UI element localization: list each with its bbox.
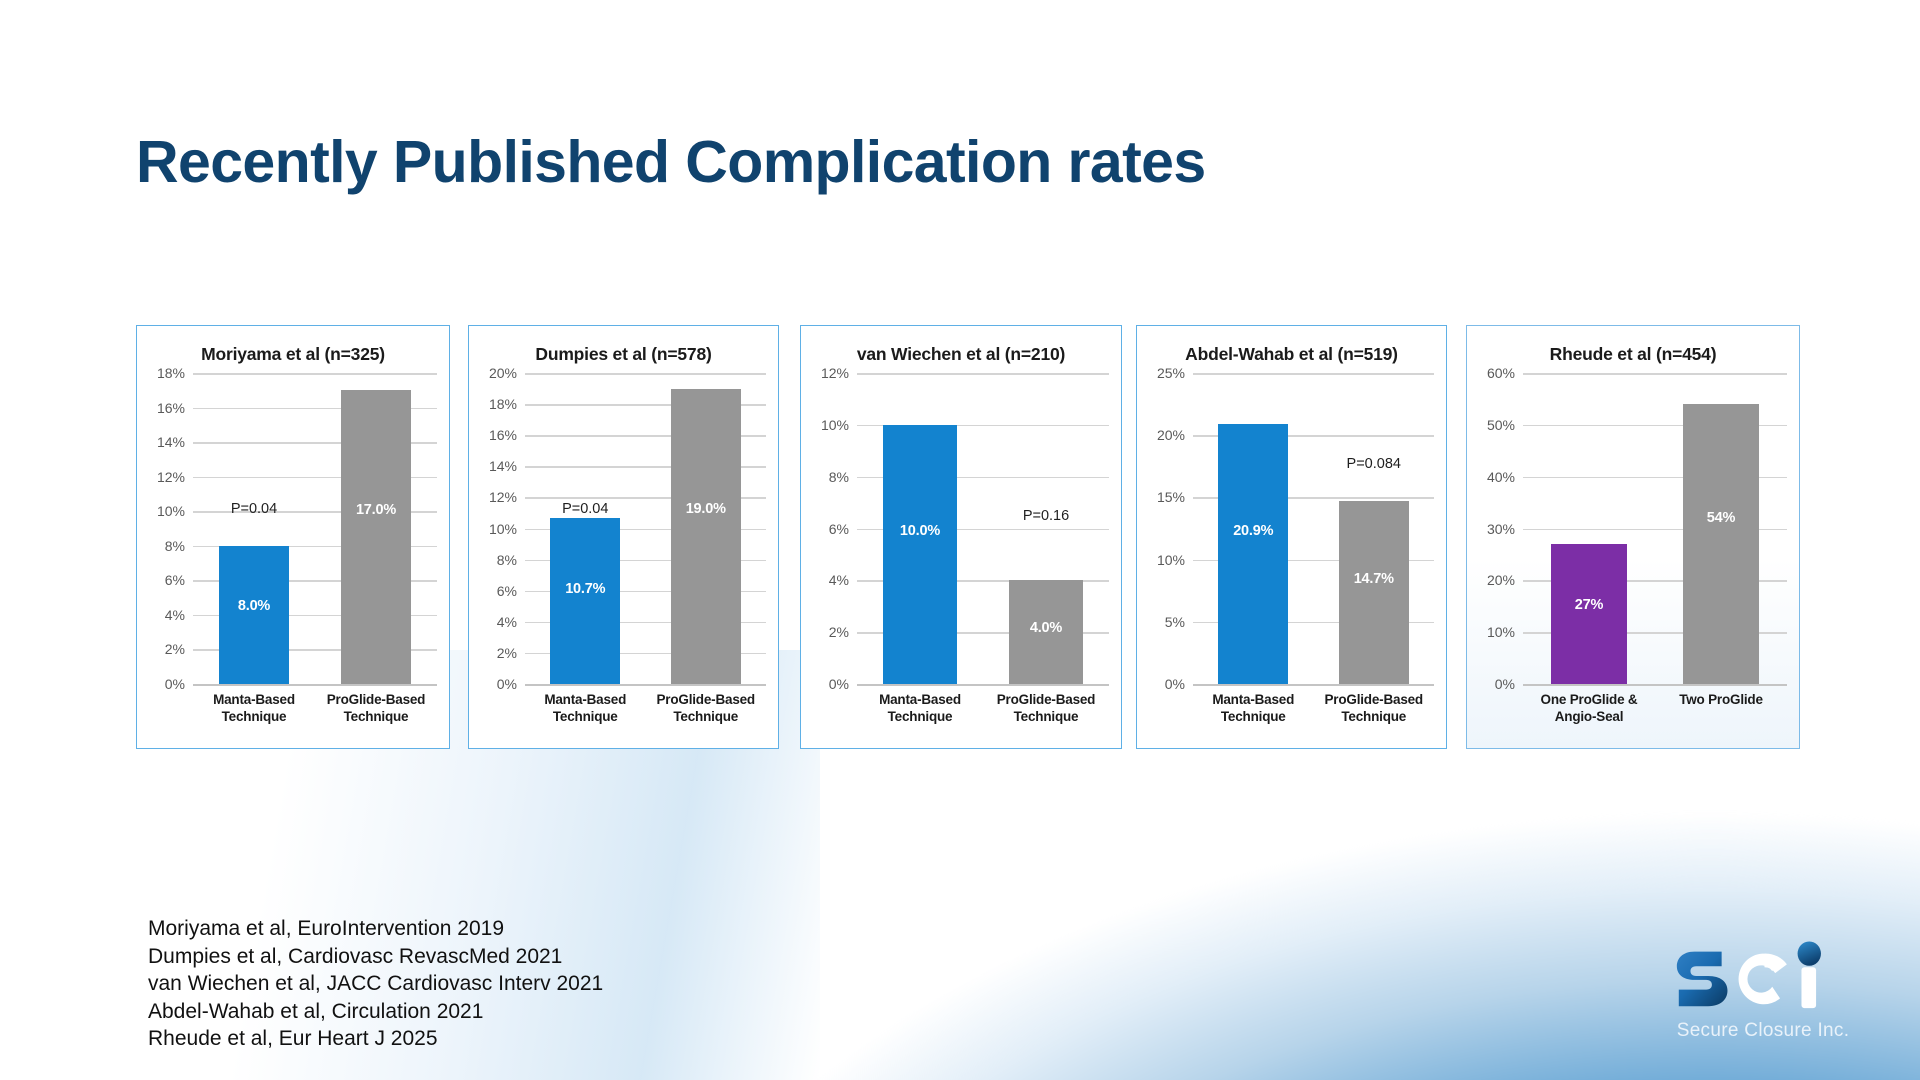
y-axis-tick-label: 5% <box>1165 614 1185 630</box>
bar-value-label: 27% <box>1575 597 1603 613</box>
bar: 54% <box>1683 404 1760 684</box>
bar-value-label: 10.0% <box>900 523 940 539</box>
bar-series: 10.0%4.0% <box>857 373 1109 684</box>
y-axis-tick-label: 16% <box>157 400 185 416</box>
gridline <box>193 684 437 686</box>
y-axis-tick-label: 18% <box>157 365 185 381</box>
plot-inner: 0%5%10%15%20%25%20.9%14.7%P=0.084 <box>1145 373 1436 684</box>
p-value-annotation: P=0.084 <box>1347 456 1401 472</box>
y-axis-tick-label: 50% <box>1487 417 1515 433</box>
chart-card: Rheude et al (n=454)0%10%20%30%40%50%60%… <box>1466 325 1800 749</box>
bar-slot: 54% <box>1655 373 1787 684</box>
bar-value-label: 54% <box>1707 510 1735 526</box>
y-axis-tick-label: 4% <box>829 572 849 588</box>
plot-inner: 0%2%4%6%8%10%12%10.0%4.0%P=0.16 <box>809 373 1111 684</box>
bar: 10.7% <box>550 518 620 684</box>
chart-title: Abdel-Wahab et al (n=519) <box>1143 344 1440 365</box>
chart-title: Moriyama et al (n=325) <box>143 344 443 365</box>
bar-series: 8.0%17.0% <box>193 373 437 684</box>
bar-series: 20.9%14.7% <box>1193 373 1434 684</box>
bar-value-label: 4.0% <box>1030 620 1062 636</box>
company-logo: Secure Closure Inc. <box>1658 938 1868 1042</box>
y-axis-tick-label: 16% <box>489 427 517 443</box>
logo-wordmark: Secure Closure Inc. <box>1658 1020 1868 1042</box>
plot-inner: 0%10%20%30%40%50%60%27%54% <box>1475 373 1789 684</box>
x-axis-category-label: Manta-Based Technique <box>1193 688 1314 742</box>
y-axis: 0%2%4%6%8%10%12%14%16%18%20% <box>477 373 523 684</box>
chart-title: Dumpies et al (n=578) <box>475 344 772 365</box>
chart-card: van Wiechen et al (n=210)0%2%4%6%8%10%12… <box>800 325 1122 749</box>
x-axis-category-label: Two ProGlide <box>1655 688 1787 742</box>
y-axis-tick-label: 10% <box>489 521 517 537</box>
y-axis-tick-label: 20% <box>1157 427 1185 443</box>
x-axis-category-label: ProGlide-Based Technique <box>315 688 437 742</box>
y-axis-tick-label: 12% <box>821 365 849 381</box>
y-axis-tick-label: 12% <box>489 489 517 505</box>
y-axis-tick-label: 2% <box>165 641 185 657</box>
x-axis-category-label: One ProGlide & Angio-Seal <box>1523 688 1655 742</box>
y-axis-tick-label: 2% <box>497 645 517 661</box>
y-axis-tick-label: 0% <box>497 676 517 692</box>
bar-value-label: 20.9% <box>1233 523 1273 539</box>
x-axis-category-label: Manta-Based Technique <box>857 688 983 742</box>
y-axis-tick-label: 10% <box>821 417 849 433</box>
p-value-annotation: P=0.16 <box>1023 508 1069 524</box>
bar-slot: 20.9% <box>1193 373 1314 684</box>
x-axis-category-label: ProGlide-Based Technique <box>1314 688 1435 742</box>
y-axis-tick-label: 14% <box>157 434 185 450</box>
y-axis-tick-label: 6% <box>497 583 517 599</box>
bar: 10.0% <box>883 425 956 684</box>
chart-title: van Wiechen et al (n=210) <box>807 344 1115 365</box>
bar: 27% <box>1551 544 1628 684</box>
y-axis-tick-label: 8% <box>829 469 849 485</box>
sci-logo-icon <box>1671 938 1856 1016</box>
bar-slot: 4.0% <box>983 373 1109 684</box>
bar-slot: 10.0% <box>857 373 983 684</box>
bar: 17.0% <box>341 390 412 684</box>
bar-value-label: 10.7% <box>565 581 605 597</box>
y-axis-tick-label: 8% <box>497 552 517 568</box>
y-axis-tick-label: 14% <box>489 458 517 474</box>
plot-area: 0%10%20%30%40%50%60%27%54%One ProGlide &… <box>1475 373 1789 742</box>
citation-list: Moriyama et al, EuroIntervention 2019Dum… <box>148 915 603 1053</box>
y-axis-tick-label: 30% <box>1487 521 1515 537</box>
slide-canvas: Recently Published Complication rates Mo… <box>0 0 1920 1080</box>
bar-slot: 19.0% <box>646 373 767 684</box>
bar-slot: 8.0% <box>193 373 315 684</box>
bar-series: 27%54% <box>1523 373 1787 684</box>
plot-area: 0%2%4%6%8%10%12%14%16%18%20%10.7%19.0%P=… <box>477 373 768 742</box>
bar-slot: 17.0% <box>315 373 437 684</box>
x-axis: Manta-Based TechniqueProGlide-Based Tech… <box>193 688 437 742</box>
plot-area: 0%5%10%15%20%25%20.9%14.7%P=0.084Manta-B… <box>1145 373 1436 742</box>
bar: 4.0% <box>1009 580 1082 684</box>
p-value-annotation: P=0.04 <box>562 501 608 517</box>
y-axis-tick-label: 6% <box>165 572 185 588</box>
y-axis: 0%2%4%6%8%10%12% <box>809 373 855 684</box>
page-title: Recently Published Complication rates <box>136 128 1206 196</box>
charts-row: Moriyama et al (n=325)0%2%4%6%8%10%12%14… <box>136 325 1800 749</box>
x-axis-category-label: Manta-Based Technique <box>525 688 646 742</box>
x-axis-category-label: Manta-Based Technique <box>193 688 315 742</box>
y-axis-tick-label: 4% <box>497 614 517 630</box>
y-axis-tick-label: 25% <box>1157 365 1185 381</box>
x-axis: Manta-Based TechniqueProGlide-Based Tech… <box>857 688 1109 742</box>
y-axis-tick-label: 0% <box>165 676 185 692</box>
gridline <box>1523 684 1787 686</box>
citation-line: Moriyama et al, EuroIntervention 2019 <box>148 915 603 943</box>
y-axis-tick-label: 4% <box>165 607 185 623</box>
chart-card: Abdel-Wahab et al (n=519)0%5%10%15%20%25… <box>1136 325 1447 749</box>
y-axis-tick-label: 6% <box>829 521 849 537</box>
y-axis: 0%5%10%15%20%25% <box>1145 373 1191 684</box>
citation-line: Abdel-Wahab et al, Circulation 2021 <box>148 998 603 1026</box>
bar-value-label: 8.0% <box>238 598 270 614</box>
citation-line: Rheude et al, Eur Heart J 2025 <box>148 1025 603 1053</box>
y-axis-tick-label: 2% <box>829 624 849 640</box>
bar-value-label: 14.7% <box>1354 571 1394 587</box>
bar-slot: 27% <box>1523 373 1655 684</box>
plot-inner: 0%2%4%6%8%10%12%14%16%18%20%10.7%19.0%P=… <box>477 373 768 684</box>
y-axis-tick-label: 60% <box>1487 365 1515 381</box>
x-axis-category-label: ProGlide-Based Technique <box>646 688 767 742</box>
p-value-annotation: P=0.04 <box>231 501 277 517</box>
bar: 19.0% <box>671 389 741 684</box>
citation-line: Dumpies et al, Cardiovasc RevascMed 2021 <box>148 943 603 971</box>
bar-value-label: 19.0% <box>686 501 726 517</box>
y-axis: 0%10%20%30%40%50%60% <box>1475 373 1521 684</box>
bar-series: 10.7%19.0% <box>525 373 766 684</box>
plot-inner: 0%2%4%6%8%10%12%14%16%18%8.0%17.0%P=0.04 <box>145 373 439 684</box>
y-axis-tick-label: 0% <box>1165 676 1185 692</box>
y-axis-tick-label: 12% <box>157 469 185 485</box>
bar-slot: 10.7% <box>525 373 646 684</box>
chart-card: Dumpies et al (n=578)0%2%4%6%8%10%12%14%… <box>468 325 779 749</box>
y-axis-tick-label: 0% <box>1495 676 1515 692</box>
gridline <box>857 684 1109 686</box>
bar-value-label: 17.0% <box>356 502 396 518</box>
y-axis-tick-label: 10% <box>157 503 185 519</box>
plot-area: 0%2%4%6%8%10%12%10.0%4.0%P=0.16Manta-Bas… <box>809 373 1111 742</box>
gridline <box>1193 684 1434 686</box>
citation-line: van Wiechen et al, JACC Cardiovasc Inter… <box>148 970 603 998</box>
y-axis-tick-label: 10% <box>1487 624 1515 640</box>
y-axis-tick-label: 20% <box>489 365 517 381</box>
chart-card: Moriyama et al (n=325)0%2%4%6%8%10%12%14… <box>136 325 450 749</box>
y-axis-tick-label: 8% <box>165 538 185 554</box>
gridline <box>525 684 766 686</box>
y-axis: 0%2%4%6%8%10%12%14%16%18% <box>145 373 191 684</box>
x-axis: Manta-Based TechniqueProGlide-Based Tech… <box>1193 688 1434 742</box>
y-axis-tick-label: 10% <box>1157 552 1185 568</box>
bar: 8.0% <box>219 546 290 684</box>
bar: 20.9% <box>1218 424 1288 684</box>
plot-area: 0%2%4%6%8%10%12%14%16%18%8.0%17.0%P=0.04… <box>145 373 439 742</box>
y-axis-tick-label: 15% <box>1157 489 1185 505</box>
bar: 14.7% <box>1339 501 1409 684</box>
y-axis-tick-label: 18% <box>489 396 517 412</box>
bar-slot: 14.7% <box>1314 373 1435 684</box>
chart-title: Rheude et al (n=454) <box>1473 344 1793 365</box>
y-axis-tick-label: 20% <box>1487 572 1515 588</box>
x-axis-category-label: ProGlide-Based Technique <box>983 688 1109 742</box>
x-axis: One ProGlide & Angio-SealTwo ProGlide <box>1523 688 1787 742</box>
x-axis: Manta-Based TechniqueProGlide-Based Tech… <box>525 688 766 742</box>
y-axis-tick-label: 40% <box>1487 469 1515 485</box>
y-axis-tick-label: 0% <box>829 676 849 692</box>
